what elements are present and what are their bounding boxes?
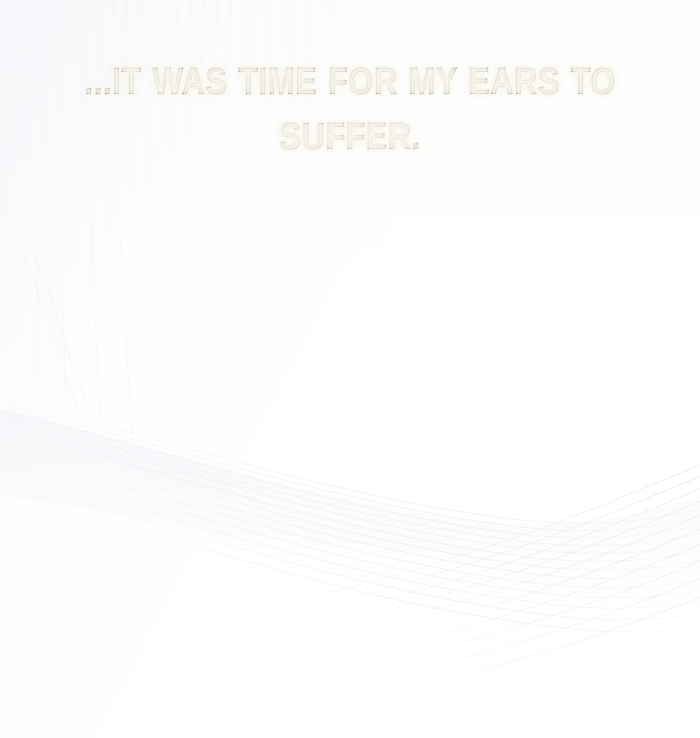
background-band-soft: [0, 400, 700, 623]
comic-panel: ...IT WAS TIME FOR MY EARS TO SUFFER. ..…: [0, 0, 700, 738]
caption-text-block: ...IT WAS TIME FOR MY EARS TO SUFFER.: [49, 55, 651, 165]
mesh-ribbon-lower: [300, 446, 700, 699]
caption-line-1: ...IT WAS TIME FOR MY EARS TO: [49, 55, 651, 110]
mesh-vertical-hints: [34, 186, 132, 440]
caption-line-2: SUFFER.: [49, 110, 651, 165]
mesh-ribbon-upper: [0, 392, 700, 632]
mesh-diagonal-lines: [0, 240, 276, 506]
